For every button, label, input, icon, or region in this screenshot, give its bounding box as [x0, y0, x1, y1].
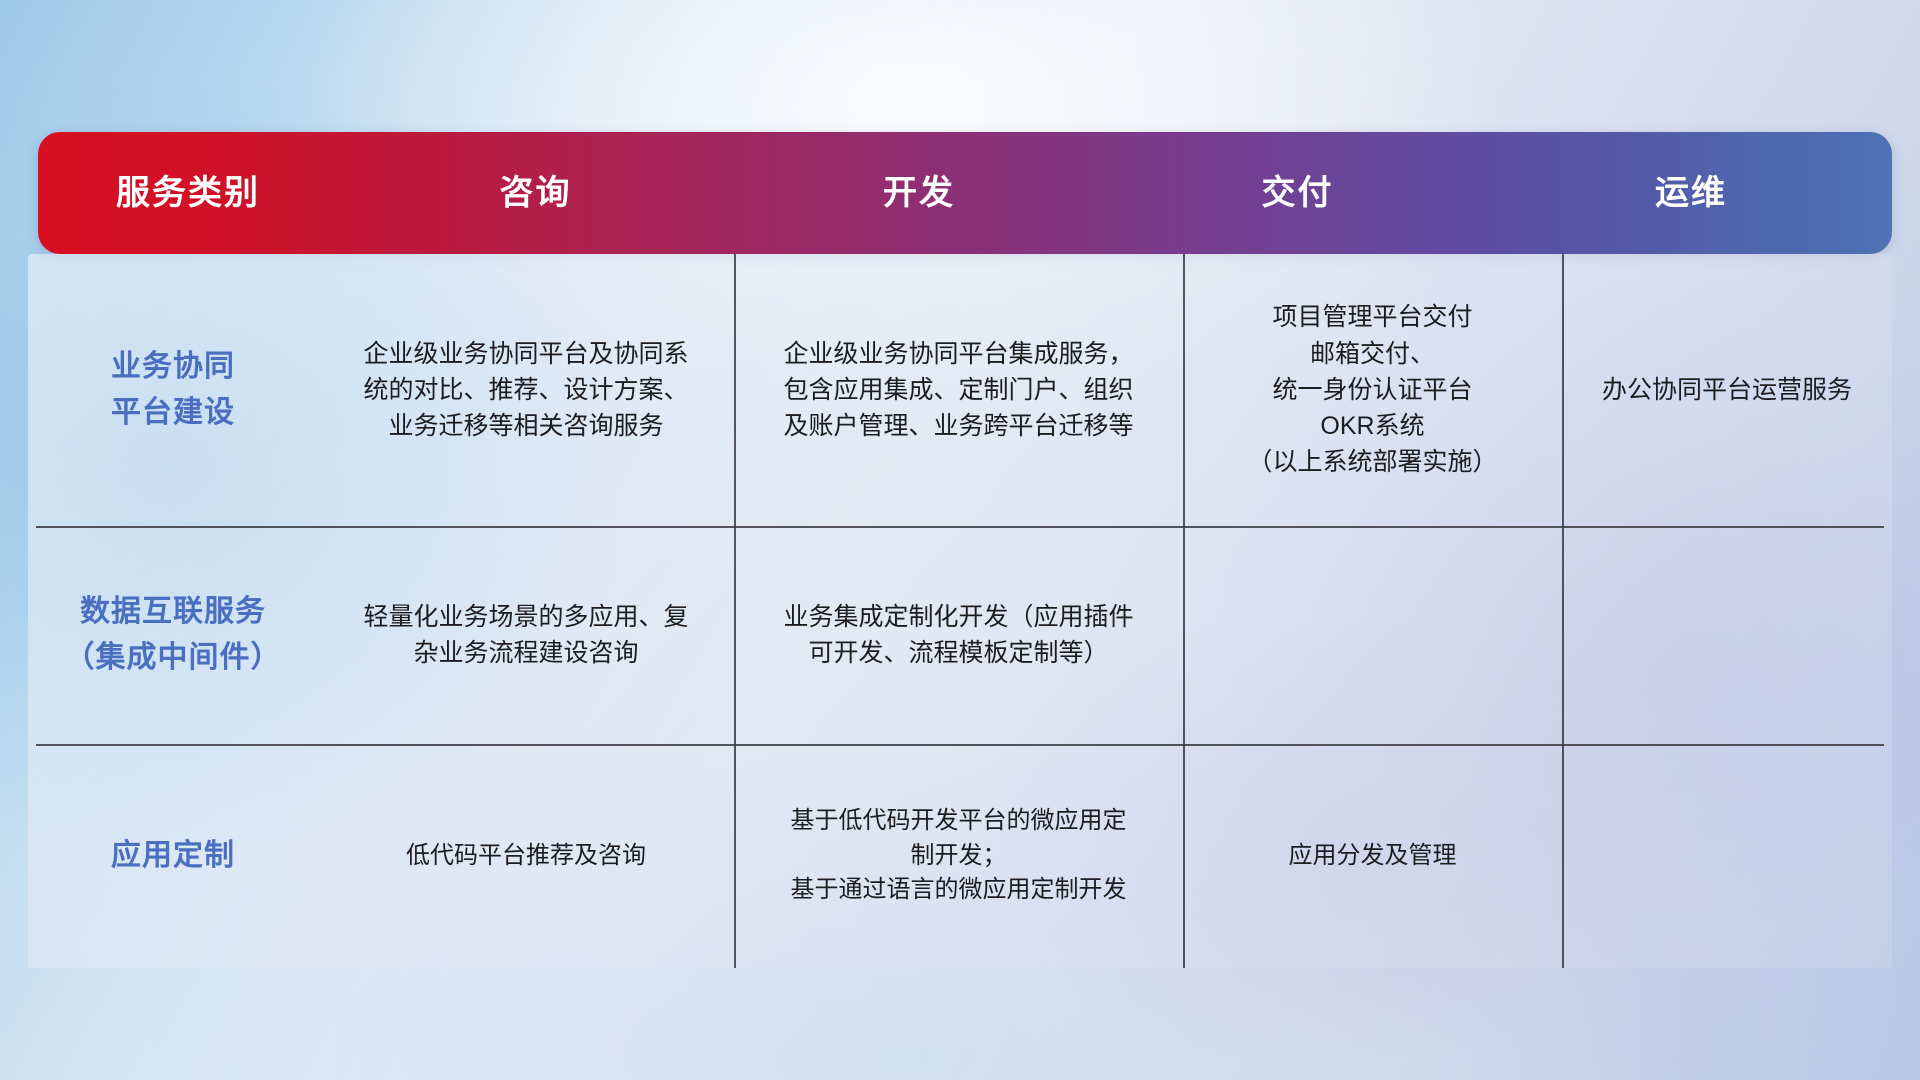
cell-text: 企业级业务协同平台及协同系 统的对比、推荐、设计方案、 业务迁移等相关咨询服务	[363, 336, 688, 445]
table-row: 数据互联服务 （集成中间件） 轻量化业务场景的多应用、复 杂业务流程建设咨询 业…	[28, 526, 1892, 744]
category-text: 业务协同 平台建设	[111, 344, 235, 437]
row-category-label: 业务协同 平台建设	[28, 254, 318, 526]
cell-text: 业务集成定制化开发（应用插件 可开发、流程模板定制等）	[783, 599, 1133, 672]
cell-text: 企业级业务协同平台集成服务， 包含应用集成、定制门户、组织 及账户管理、业务跨平…	[783, 336, 1133, 445]
column-header-development: 开发	[733, 176, 1105, 210]
cell-delivery: 项目管理平台交付 邮箱交付、 统一身份认证平台 OKR系统 （以上系统部署实施）	[1183, 254, 1562, 526]
table-row: 业务协同 平台建设 企业级业务协同平台及协同系 统的对比、推荐、设计方案、 业务…	[28, 254, 1892, 526]
cell-consulting: 企业级业务协同平台及协同系 统的对比、推荐、设计方案、 业务迁移等相关咨询服务	[318, 254, 734, 526]
row-category-label: 数据互联服务 （集成中间件）	[28, 526, 318, 744]
category-text: 应用定制	[111, 833, 235, 880]
category-text: 数据互联服务 （集成中间件）	[65, 589, 282, 682]
column-header-delivery: 交付	[1105, 176, 1490, 210]
column-header-operations: 运维	[1490, 176, 1892, 210]
cell-operations	[1562, 744, 1892, 968]
cell-development: 业务集成定制化开发（应用插件 可开发、流程模板定制等）	[734, 526, 1183, 744]
column-header-service-category: 服务类别	[38, 176, 338, 210]
cell-text: 办公协同平台运营服务	[1602, 372, 1852, 408]
table-header-row: 服务类别 咨询 开发 交付 运维	[38, 132, 1892, 254]
cell-text: 项目管理平台交付 邮箱交付、 统一身份认证平台 OKR系统 （以上系统部署实施）	[1247, 299, 1497, 480]
cell-operations: 办公协同平台运营服务	[1562, 254, 1892, 526]
cell-development: 企业级业务协同平台集成服务， 包含应用集成、定制门户、组织 及账户管理、业务跨平…	[734, 254, 1183, 526]
cell-consulting: 低代码平台推荐及咨询	[318, 744, 734, 968]
row-category-label: 应用定制	[28, 744, 318, 968]
table-row: 应用定制 低代码平台推荐及咨询 基于低代码开发平台的微应用定 制开发； 基于通过…	[28, 744, 1892, 968]
cell-operations	[1562, 526, 1892, 744]
cell-delivery	[1183, 526, 1562, 744]
service-matrix-table: 服务类别 咨询 开发 交付 运维 业务协同 平台建设 企业级业务协同平台及协同系…	[28, 132, 1892, 968]
cell-text: 应用分发及管理	[1289, 839, 1457, 874]
cell-delivery: 应用分发及管理	[1183, 744, 1562, 968]
cell-text: 低代码平台推荐及咨询	[406, 839, 646, 874]
cell-text: 基于低代码开发平台的微应用定 制开发； 基于通过语言的微应用定制开发	[791, 804, 1127, 908]
cell-text: 轻量化业务场景的多应用、复 杂业务流程建设咨询	[363, 599, 688, 672]
column-header-consulting: 咨询	[338, 176, 733, 210]
table-body: 业务协同 平台建设 企业级业务协同平台及协同系 统的对比、推荐、设计方案、 业务…	[28, 254, 1892, 968]
cell-consulting: 轻量化业务场景的多应用、复 杂业务流程建设咨询	[318, 526, 734, 744]
cell-development: 基于低代码开发平台的微应用定 制开发； 基于通过语言的微应用定制开发	[734, 744, 1183, 968]
